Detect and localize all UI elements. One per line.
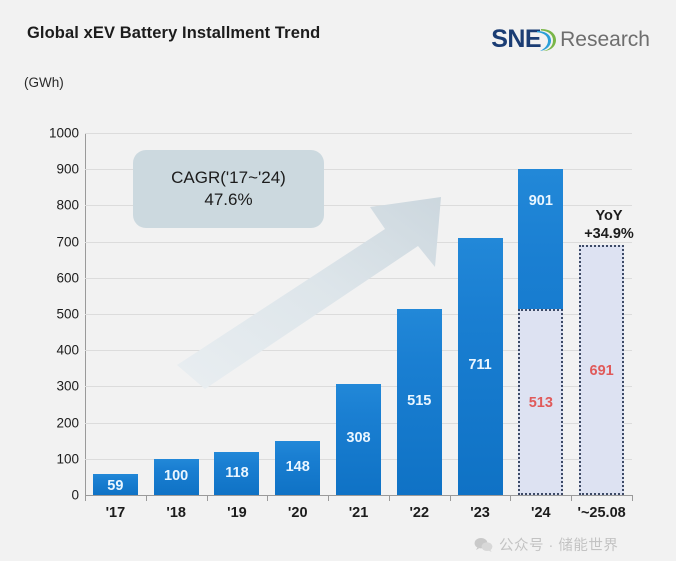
bar: 148 xyxy=(275,441,320,495)
x-axis-line xyxy=(85,495,633,496)
logo-suffix-text: Research xyxy=(560,29,650,50)
x-axis-tick-label: '18 xyxy=(166,505,186,521)
y-axis-tick-label: 800 xyxy=(23,198,79,213)
bar-value-label: 100 xyxy=(154,468,199,484)
page-title: Global xEV Battery Installment Trend xyxy=(27,24,320,43)
swoosh-icon xyxy=(532,26,558,54)
y-axis-tick-label: 400 xyxy=(23,343,79,358)
x-axis-tick-mark xyxy=(85,495,86,501)
cagr-callout-line1: CAGR('17~'24) xyxy=(171,167,286,189)
gridline xyxy=(85,133,632,134)
chart-container: Global xEV Battery Installment Trend SNE… xyxy=(0,0,676,561)
bar-value-label: 711 xyxy=(458,357,503,373)
x-axis-tick-label: '24 xyxy=(531,505,551,521)
y-axis-tick-label: 500 xyxy=(23,307,79,322)
y-axis-tick-label: 100 xyxy=(23,451,79,466)
bar: 308 xyxy=(336,384,381,495)
watermark-text: 公众号 · 储能世界 xyxy=(499,534,618,555)
bar-value-label: 513 xyxy=(520,395,561,411)
x-axis-tick-mark xyxy=(267,495,268,501)
y-axis-tick-label: 1000 xyxy=(23,126,79,141)
bar-value-label: 118 xyxy=(214,465,259,481)
x-axis-tick-label: '20 xyxy=(288,505,308,521)
x-axis-tick-label: '23 xyxy=(470,505,490,521)
bar: 59 xyxy=(93,474,138,495)
x-axis-tick-mark xyxy=(146,495,147,501)
bar-value-label: 308 xyxy=(336,430,381,446)
bar-value-label: 148 xyxy=(275,459,320,475)
bar-value-label: 59 xyxy=(93,478,138,494)
x-axis-tick-label: '19 xyxy=(227,505,247,521)
cagr-callout-line2: 47.6% xyxy=(204,189,252,211)
x-axis-tick-mark xyxy=(207,495,208,501)
bar-value-label: 515 xyxy=(397,393,442,409)
yoy-annotation: YoY +34.9% xyxy=(566,208,652,244)
x-axis-tick-label: '~25.08 xyxy=(578,505,626,521)
wechat-icon xyxy=(474,537,493,553)
watermark: 公众号 · 储能世界 xyxy=(474,534,618,555)
cagr-callout: CAGR('17~'24) 47.6% xyxy=(133,150,324,228)
x-axis-tick-label: '21 xyxy=(349,505,369,521)
y-axis-tick-label: 900 xyxy=(23,162,79,177)
y-axis-tick-label: 200 xyxy=(23,415,79,430)
x-axis-tick-label: '22 xyxy=(409,505,429,521)
bar-ytd-overlay: 513 xyxy=(518,309,563,495)
y-axis-tick-label: 700 xyxy=(23,234,79,249)
bar-value-label: 901 xyxy=(518,193,563,209)
yoy-value: +34.9% xyxy=(566,226,652,244)
bar: 118 xyxy=(214,452,259,495)
x-axis-tick-mark xyxy=(450,495,451,501)
bar-value-label: 691 xyxy=(581,363,622,379)
yoy-label: YoY xyxy=(566,208,652,226)
x-axis-tick-mark xyxy=(632,495,633,501)
x-axis-tick-label: '17 xyxy=(106,505,126,521)
x-axis-tick-mark xyxy=(510,495,511,501)
x-axis-tick-mark xyxy=(328,495,329,501)
y-axis-unit-label: (GWh) xyxy=(24,75,64,90)
y-axis-tick-label: 600 xyxy=(23,270,79,285)
bar: 515 xyxy=(397,309,442,495)
y-axis-tick-label: 0 xyxy=(23,488,79,503)
y-axis-tick-label: 300 xyxy=(23,379,79,394)
bar-forecast: 691 xyxy=(579,245,624,495)
x-axis-tick-mark xyxy=(389,495,390,501)
sne-research-logo: SNE Research xyxy=(491,24,650,54)
bar: 100 xyxy=(154,459,199,495)
x-axis-tick-mark xyxy=(571,495,572,501)
bar: 711 xyxy=(458,238,503,495)
